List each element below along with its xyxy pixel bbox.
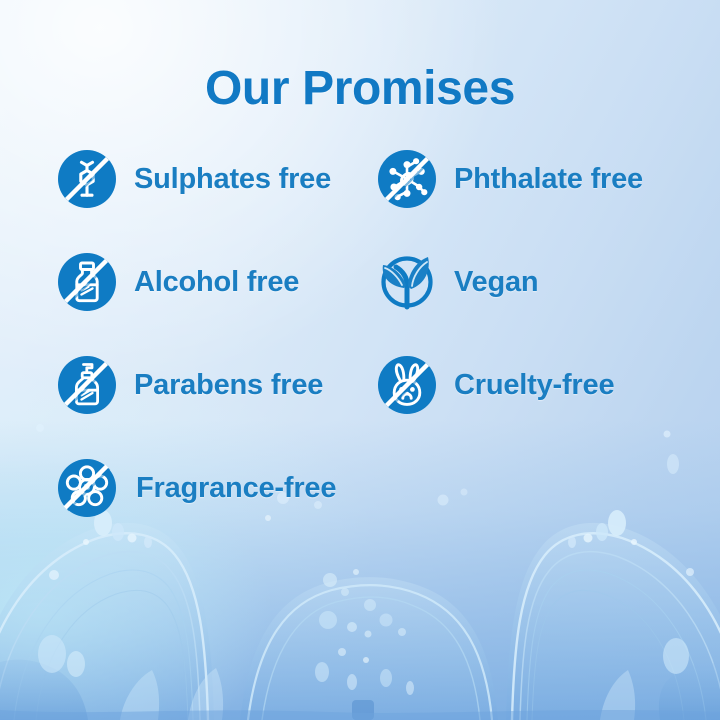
- promise-item-fragrance-free: Fragrance-free: [58, 455, 368, 521]
- promise-item-vegan: Vegan: [378, 249, 690, 315]
- promise-item-alcohol-free: Alcohol free: [58, 249, 368, 315]
- promises-column-right: Phthalate free Vegan: [378, 146, 690, 418]
- promises-poster: Our Promises: [0, 0, 720, 720]
- leaf-sprout-icon: [378, 253, 436, 311]
- flower-no-icon: [58, 459, 116, 517]
- promise-item-parabens-free: Parabens free: [58, 352, 368, 418]
- molecular-structure-no-icon: [378, 150, 436, 208]
- promise-label: Alcohol free: [134, 266, 299, 299]
- promise-item-phthalate-free: Phthalate free: [378, 146, 690, 212]
- page-title: Our Promises: [0, 61, 720, 116]
- rabbit-no-icon: [378, 356, 436, 414]
- promise-label: Vegan: [454, 266, 538, 299]
- promise-label: Phthalate free: [454, 163, 643, 196]
- promise-item-sulphates-free: Sulphates free: [58, 146, 368, 212]
- promises-column-left: Sulphates free: [58, 146, 368, 521]
- promise-label: Sulphates free: [134, 163, 331, 196]
- bottle-no-icon: [58, 253, 116, 311]
- molecule-no-icon: [58, 150, 116, 208]
- promise-label: Fragrance-free: [136, 472, 336, 505]
- promise-label: Cruelty-free: [454, 369, 614, 402]
- pump-bottle-no-icon: [58, 356, 116, 414]
- promise-item-cruelty-free: Cruelty-free: [378, 352, 690, 418]
- promise-label: Parabens free: [134, 369, 323, 402]
